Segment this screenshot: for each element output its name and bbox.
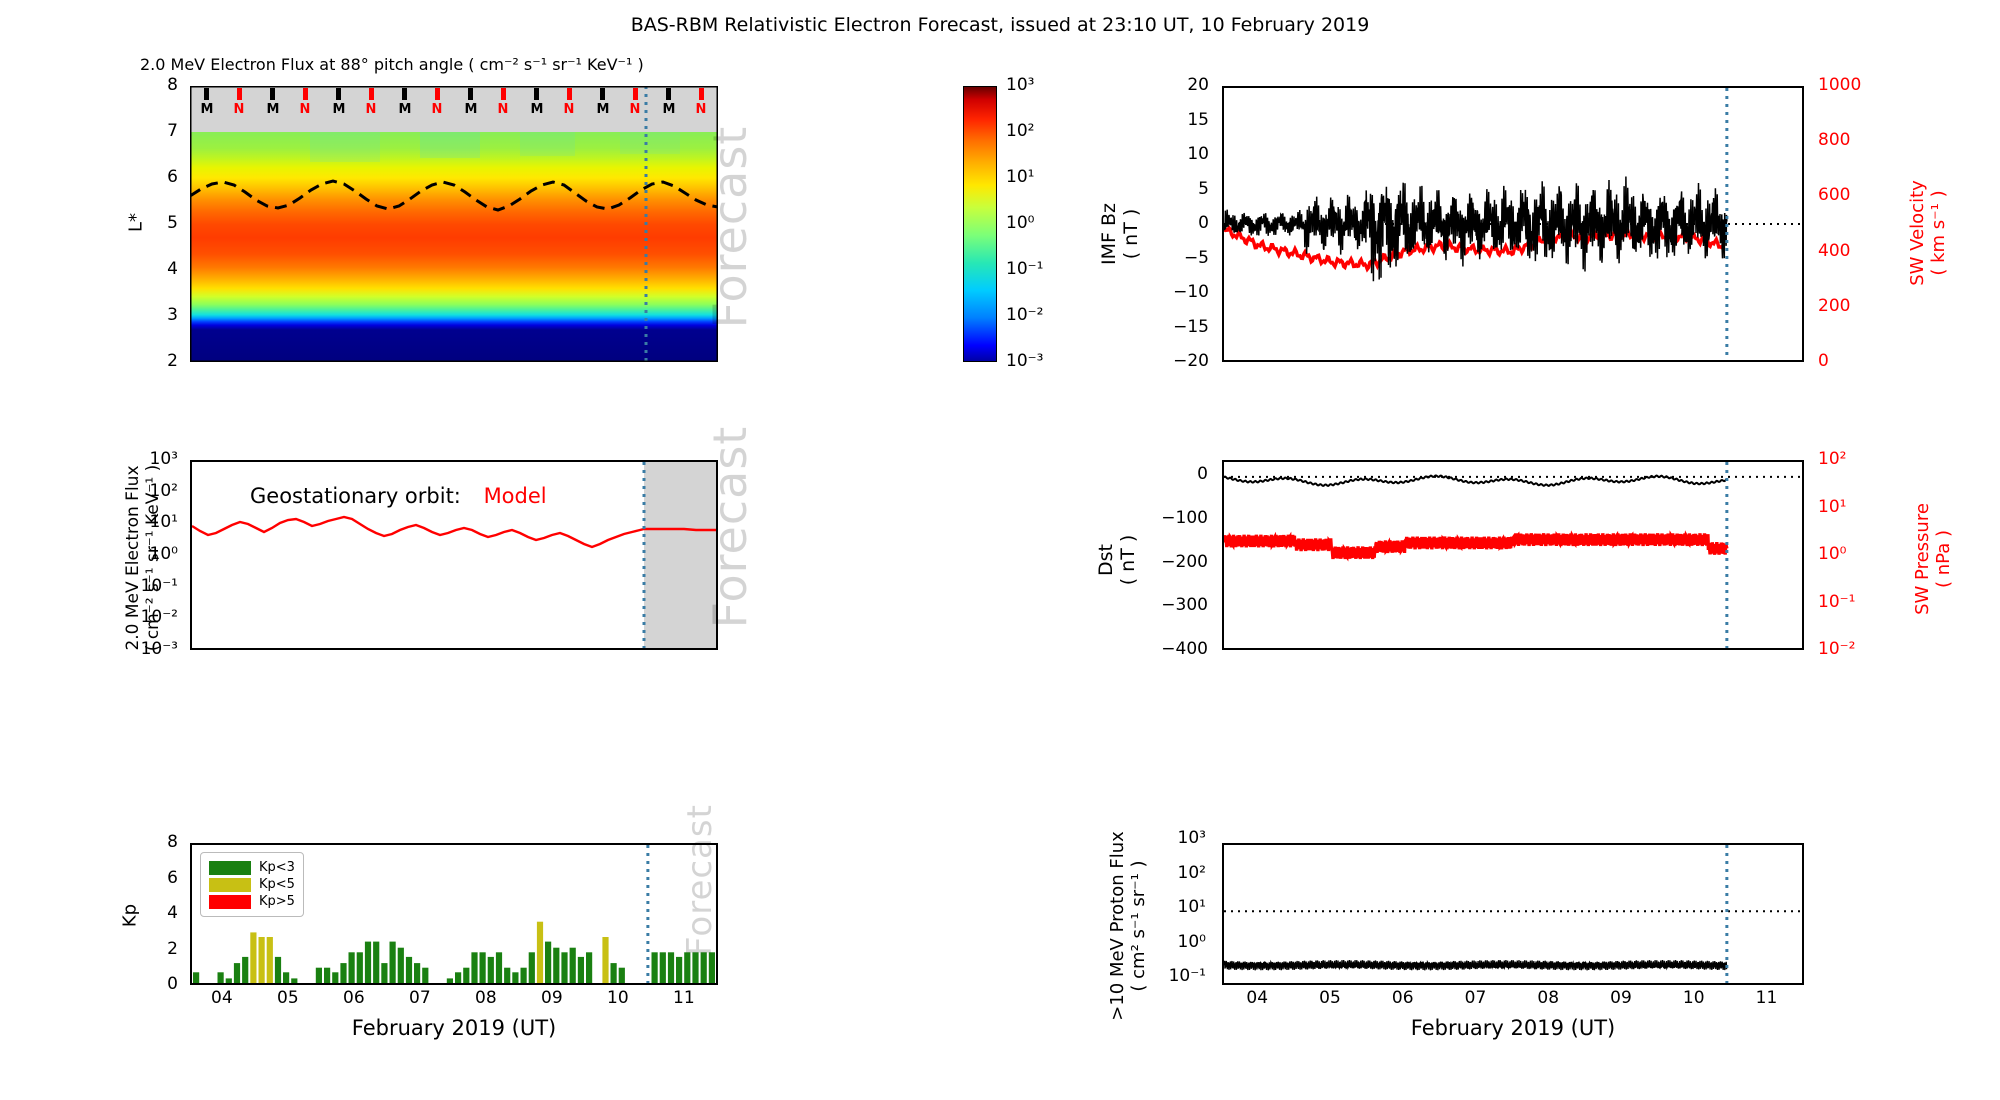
mn-label-14: M (663, 102, 676, 117)
proton-ylabel: >10 MeV Proton Flux ( cm² s⁻¹ sr⁻¹ ) (1107, 816, 1149, 1036)
dst-ytick-3: −300 (1161, 595, 1208, 615)
imf-bz-trace (1224, 177, 1727, 282)
kp-bar (218, 972, 224, 983)
proton-ytick-2: 10¹ (1178, 897, 1206, 917)
imf-ytick-5: −5 (1184, 248, 1209, 268)
kp-ytick-4: 0 (167, 974, 178, 994)
kp-bar (471, 952, 477, 983)
mn-tickmark-8 (468, 88, 473, 100)
page-title: BAS-RBM Relativistic Electron Forecast, … (0, 14, 2000, 36)
dst-ytick-1: −100 (1161, 508, 1208, 528)
colorbar-tick-0: 10³ (1006, 75, 1034, 95)
kp-bar (521, 968, 527, 983)
mn-tickmark-4 (336, 88, 341, 100)
kp-legend: Kp<3Kp<5Kp>5 (200, 852, 304, 917)
kp-bar (390, 942, 396, 983)
kp-bar (668, 952, 674, 983)
mn-marker-row: MNMNMNMNMNMNMNMN (190, 88, 718, 118)
kp-bar (447, 978, 453, 983)
kp-bar (676, 957, 682, 983)
kp-bar (406, 957, 412, 983)
kp-xtick-09: 09 (541, 988, 563, 1008)
geo-flux-ylabel-line2: ( cm⁻² s⁻¹ sr⁻¹ KeV⁻¹ ) (143, 448, 163, 668)
proton-xticks: 0405060708091011 (1222, 988, 1804, 1012)
mn-label-8: M (465, 102, 478, 117)
geo-flux-legend-prefix: Geostationary orbit: (250, 484, 461, 508)
imf-ytick-1: 15 (1187, 110, 1209, 130)
mn-tickmark-12 (600, 88, 605, 100)
sw-pressure-yticks: 10²10¹10⁰10⁻¹10⁻² (1812, 460, 1882, 650)
kp-bar (275, 957, 281, 983)
colorbar-tick-6: 10⁻³ (1006, 351, 1043, 371)
sw-velocity-yticks: 10008006004002000 (1812, 86, 1882, 362)
sw-velocity-ytick-0: 1000 (1818, 75, 1861, 95)
kp-ytick-3: 2 (167, 939, 178, 959)
mn-label-1: N (234, 102, 245, 117)
sw-velocity-ytick-2: 600 (1818, 185, 1850, 205)
imf-ytick-2: 10 (1187, 144, 1209, 164)
kp-ytick-1: 6 (167, 868, 178, 888)
imf-ytick-4: 0 (1198, 213, 1209, 233)
colorbar-ticks: 10³10²10¹10⁰10⁻¹10⁻²10⁻³ (1000, 86, 1070, 362)
proton-plot (1222, 843, 1804, 985)
kp-bar (332, 972, 338, 983)
kp-bar (365, 942, 371, 983)
kp-ytick-2: 4 (167, 903, 178, 923)
imf-ylabel: IMF Bz ( nT ) (1098, 159, 1142, 309)
colorbar-tick-2: 10¹ (1006, 167, 1034, 187)
mn-tickmark-1 (237, 88, 242, 100)
kp-xtick-04: 04 (211, 988, 233, 1008)
kp-legend-row-2: Kp>5 (209, 894, 295, 909)
mn-tickmark-10 (534, 88, 539, 100)
proton-xtick-06: 06 (1392, 988, 1414, 1008)
flux-map-title: 2.0 MeV Electron Flux at 88° pitch angle… (140, 55, 644, 74)
kp-bar (316, 968, 322, 983)
mn-tickmark-14 (666, 88, 671, 100)
kp-bar (570, 948, 576, 983)
kp-bar (381, 963, 387, 983)
proton-xtick-11: 11 (1756, 988, 1778, 1008)
sw-velocity-ylabel: SW Velocity ( km s⁻¹ ) (1907, 143, 1949, 323)
kp-bar (512, 972, 518, 983)
mn-label-7: N (432, 102, 443, 117)
sw-pressure-ytick-2: 10⁰ (1818, 544, 1846, 564)
flux-map-ytick-4: 4 (167, 259, 178, 279)
imf-ylabel-line2: ( nT ) (1120, 159, 1142, 309)
mn-label-15: N (696, 102, 707, 117)
mn-tickmark-3 (303, 88, 308, 100)
kp-bar (283, 972, 289, 983)
kp-xlabel: February 2019 (UT) (190, 1016, 718, 1040)
flux-map-ytick-0: 8 (167, 75, 178, 95)
kp-xticks: 0405060708091011 (190, 988, 718, 1012)
kp-bar (701, 952, 707, 983)
dst-ylabel: Dst ( nT ) (1095, 485, 1139, 635)
sw-velocity-ytick-4: 200 (1818, 296, 1850, 316)
sw-velocity-ytick-1: 800 (1818, 130, 1850, 150)
sw-pressure-ytick-3: 10⁻¹ (1818, 592, 1855, 612)
kp-bar (488, 957, 494, 983)
proton-flux-trace (1224, 960, 1727, 970)
kp-xtick-05: 05 (277, 988, 299, 1008)
mn-tickmark-7 (435, 88, 440, 100)
imf-ytick-3: 5 (1198, 179, 1209, 199)
kp-ytick-0: 8 (167, 832, 178, 852)
proton-xtick-07: 07 (1465, 988, 1487, 1008)
imf-ytick-7: −15 (1173, 317, 1209, 337)
colorbar-tick-1: 10² (1006, 121, 1034, 141)
kp-bar (242, 957, 248, 983)
colorbar (963, 86, 997, 362)
kp-bar (660, 952, 666, 983)
dst-ytick-2: −200 (1161, 552, 1208, 572)
kp-xtick-06: 06 (343, 988, 365, 1008)
kp-bar (553, 948, 559, 983)
sw-velocity-ylabel-line2: ( km s⁻¹ ) (1928, 143, 1949, 323)
mn-tickmark-11 (567, 88, 572, 100)
kp-bar (529, 952, 535, 983)
kp-xtick-07: 07 (409, 988, 431, 1008)
sw-pressure-ytick-4: 10⁻² (1818, 639, 1855, 659)
proton-ytick-0: 10³ (1178, 828, 1206, 848)
kp-bar (291, 978, 297, 983)
kp-legend-label-0: Kp<3 (259, 860, 295, 875)
mn-tickmark-2 (270, 88, 275, 100)
kp-bar (259, 937, 265, 983)
kp-bar (373, 942, 379, 983)
dst-ylabel-line1: Dst (1095, 485, 1117, 635)
imf-yticks: 20151050−5−10−15−20 (1155, 86, 1215, 362)
proton-xtick-09: 09 (1610, 988, 1632, 1008)
proton-ylabel-line2: ( cm² s⁻¹ sr⁻¹ ) (1128, 816, 1149, 1036)
sw-pressure-ylabel: SW Pressure ( nPa ) (1912, 469, 1954, 649)
proton-ylabel-line1: >10 MeV Proton Flux (1107, 816, 1128, 1036)
flux-map-ytick-6: 2 (167, 351, 178, 371)
dst-ytick-4: −400 (1161, 639, 1208, 659)
geo-flux-legend: Geostationary orbit: Model (250, 484, 547, 508)
mn-tickmark-15 (699, 88, 704, 100)
sw-pressure-ytick-1: 10¹ (1818, 497, 1846, 517)
kp-bar (684, 952, 690, 983)
geo-flux-legend-model: Model (484, 484, 547, 508)
sw-pressure-ylabel-line1: SW Pressure (1912, 469, 1933, 649)
kp-legend-label-2: Kp>5 (259, 894, 295, 909)
sw-velocity-ylabel-line1: SW Velocity (1907, 143, 1928, 323)
kp-bar (267, 937, 273, 983)
kp-bar (496, 952, 502, 983)
imf-ytick-0: 20 (1187, 75, 1209, 95)
sw-velocity-ytick-5: 0 (1818, 351, 1829, 371)
mn-label-9: N (498, 102, 509, 117)
kp-bar (537, 922, 543, 983)
kp-xtick-08: 08 (475, 988, 497, 1008)
colorbar-tick-5: 10⁻² (1006, 305, 1043, 325)
proton-ytick-4: 10⁻¹ (1169, 966, 1206, 986)
flux-map-ytick-5: 3 (167, 305, 178, 325)
mn-tickmark-5 (369, 88, 374, 100)
geo-flux-ylabel: 2.0 MeV Electron Flux ( cm⁻² s⁻¹ sr⁻¹ Ke… (123, 448, 163, 668)
kp-bar (545, 942, 551, 983)
proton-yticks: 10³10²10¹10⁰10⁻¹ (1148, 836, 1212, 986)
flux-map-ytick-3: 5 (167, 213, 178, 233)
kp-bar (602, 937, 608, 983)
mn-tickmark-9 (501, 88, 506, 100)
dst-plot (1222, 460, 1804, 650)
imf-ytick-8: −20 (1173, 351, 1209, 371)
colorbar-tick-4: 10⁻¹ (1006, 259, 1043, 279)
kp-bar (250, 932, 256, 983)
geo-flux-ylabel-line1: 2.0 MeV Electron Flux (123, 448, 143, 668)
dst-trace (1224, 475, 1727, 486)
mn-label-0: M (201, 102, 214, 117)
kp-xtick-11: 11 (673, 988, 695, 1008)
mn-label-6: M (399, 102, 412, 117)
proton-xtick-10: 10 (1683, 988, 1705, 1008)
proton-xtick-08: 08 (1537, 988, 1559, 1008)
kp-bar (586, 952, 592, 983)
mn-label-2: M (267, 102, 280, 117)
mn-label-11: N (564, 102, 575, 117)
kp-bar (463, 968, 469, 983)
colorbar-tick-3: 10⁰ (1006, 213, 1034, 233)
kp-bar (357, 952, 363, 983)
mn-tickmark-13 (633, 88, 638, 100)
sw-pressure-ylabel-line2: ( nPa ) (1933, 469, 1954, 649)
imf-ylabel-line1: IMF Bz (1098, 159, 1120, 309)
kp-bar (324, 968, 330, 983)
mn-tickmark-6 (402, 88, 407, 100)
flux-map-yticks: 8765432 (150, 86, 184, 362)
flux-map-ylabel: L* (126, 193, 147, 253)
sw-pressure-ytick-0: 10² (1818, 449, 1846, 469)
proton-xtick-05: 05 (1319, 988, 1341, 1008)
kp-bar (709, 952, 715, 983)
kp-legend-swatch-0 (209, 861, 251, 875)
flux-map-ytick-2: 6 (167, 167, 178, 187)
flux-map-ytick-1: 7 (167, 121, 178, 141)
proton-xlabel: February 2019 (UT) (1222, 1016, 1804, 1040)
kp-legend-row-0: Kp<3 (209, 860, 295, 875)
kp-bar (340, 963, 346, 983)
proton-ytick-3: 10⁰ (1178, 932, 1206, 952)
kp-xtick-10: 10 (607, 988, 629, 1008)
mn-label-13: N (630, 102, 641, 117)
imf-ytick-6: −10 (1173, 282, 1209, 302)
kp-bar (578, 957, 584, 983)
mn-label-12: M (597, 102, 610, 117)
kp-bar (504, 968, 510, 983)
kp-bar (561, 952, 567, 983)
kp-ylabel: Kp (120, 886, 141, 946)
kp-bar (480, 952, 486, 983)
kp-legend-swatch-1 (209, 878, 251, 892)
kp-legend-row-1: Kp<5 (209, 877, 295, 892)
kp-bar (611, 963, 617, 983)
mn-label-5: N (366, 102, 377, 117)
kp-bar (652, 952, 658, 983)
mn-tickmark-0 (204, 88, 209, 100)
kp-bar (193, 972, 199, 983)
proton-ytick-1: 10² (1178, 863, 1206, 883)
mn-label-4: M (333, 102, 346, 117)
dst-ylabel-line2: ( nT ) (1117, 485, 1139, 635)
mn-label-10: M (531, 102, 544, 117)
mn-label-3: N (300, 102, 311, 117)
kp-bar (414, 963, 420, 983)
kp-bar (619, 968, 625, 983)
kp-bar (422, 968, 428, 983)
kp-bar (349, 952, 355, 983)
kp-yticks: 86420 (152, 843, 184, 985)
kp-bar (226, 978, 232, 983)
sw-velocity-ytick-3: 400 (1818, 241, 1850, 261)
sw-pressure-trace (1224, 533, 1727, 559)
dst-yticks: 0−100−200−300−400 (1140, 460, 1214, 650)
kp-bar (398, 948, 404, 983)
kp-legend-swatch-2 (209, 895, 251, 909)
kp-bar (455, 972, 461, 983)
kp-bar (234, 963, 240, 983)
proton-xtick-04: 04 (1246, 988, 1268, 1008)
dst-ytick-0: 0 (1197, 464, 1208, 484)
kp-legend-label-1: Kp<5 (259, 877, 295, 892)
imf-plot (1222, 86, 1804, 362)
kp-bar (692, 952, 698, 983)
flux-map-plot (190, 86, 718, 362)
